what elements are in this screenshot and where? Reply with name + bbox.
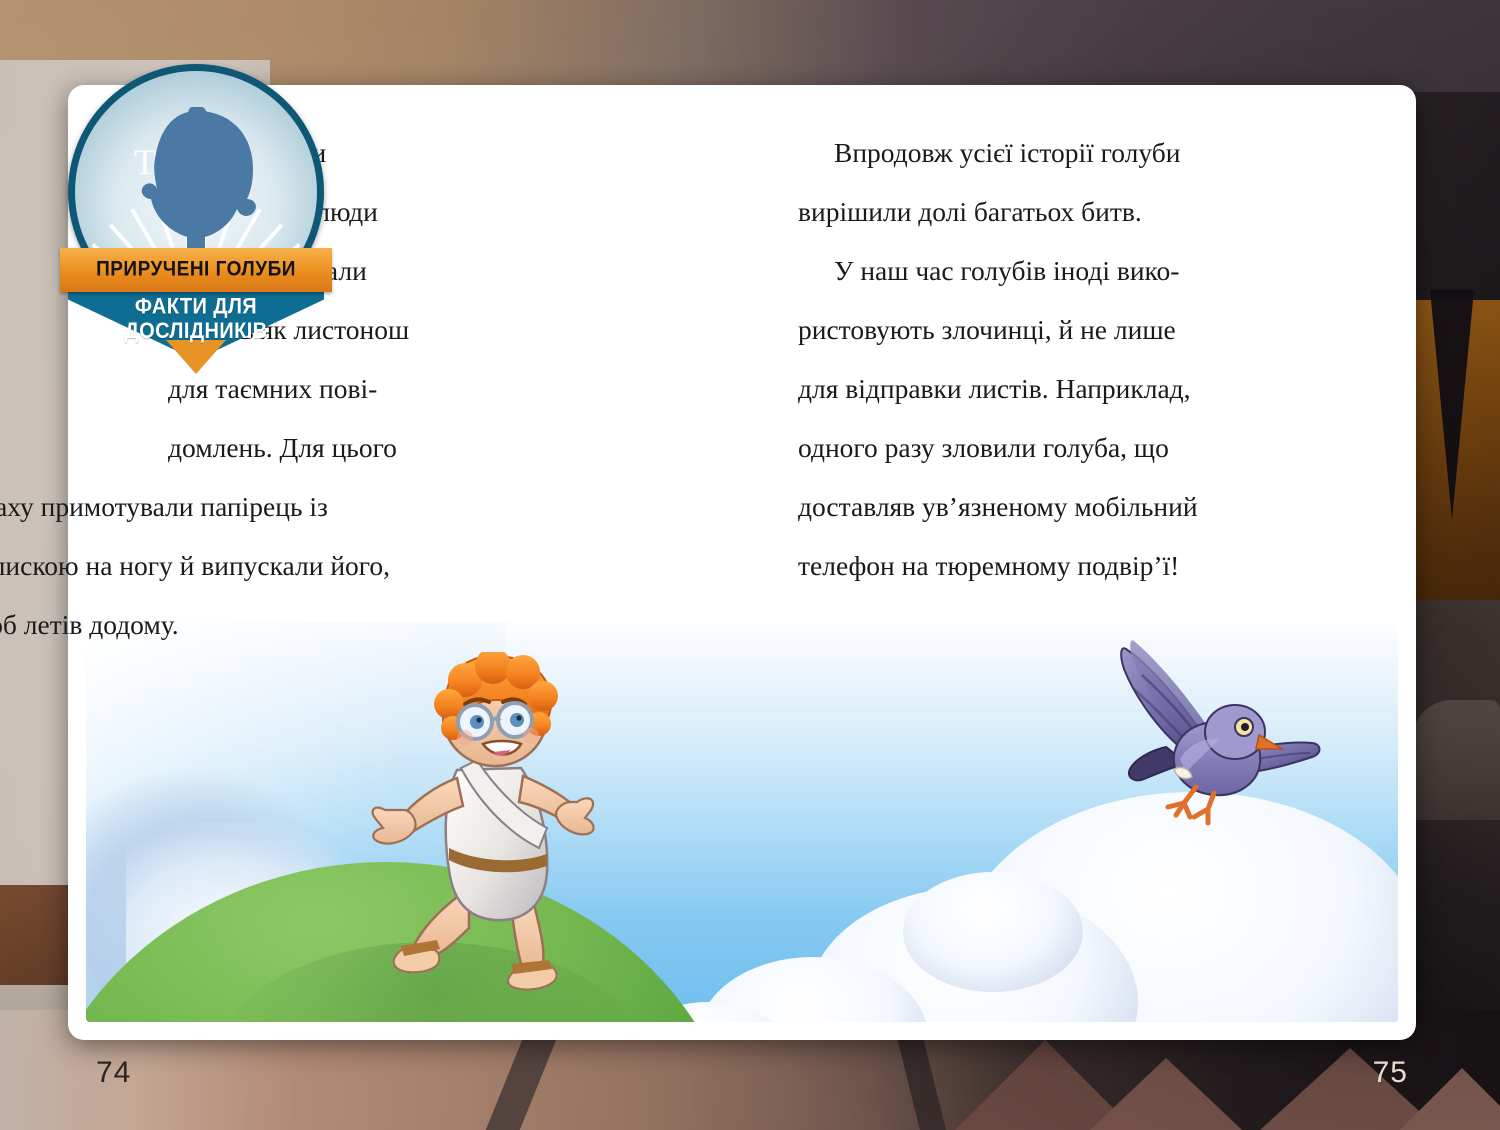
right-line-6: одного разу зловили голуба, що — [798, 418, 1298, 477]
badge-shield: ФАКТИ ДЛЯ ДОСЛІДНИКІВ ПРИРУЧЕНІ ГОЛУБИ — [68, 248, 324, 398]
right-line-8: телефон на тюремному подвір’ї! — [798, 536, 1298, 595]
badge-subtitle: ФАКТИ ДЛЯ ДОСЛІДНИКІВ — [68, 295, 324, 343]
background-peak-2 — [1090, 1058, 1242, 1130]
right-line-4: ристовують злочинці, й не лише — [798, 300, 1298, 359]
badge-ribbon-tail — [166, 340, 226, 374]
right-line-7: доставляв ув’язненому мобільний — [798, 477, 1298, 536]
badge-subtitle-line-1: ФАКТИ ДЛЯ — [68, 295, 324, 319]
background-right-stalactite — [1430, 290, 1474, 520]
illustration — [86, 622, 1398, 1022]
left-line-7: птаху примотували папірець із — [0, 477, 708, 536]
background-right-rock-secondary — [1412, 700, 1500, 820]
right-line-5: для відправки листів. Наприклад, — [798, 359, 1298, 418]
badge-ribbon: ПРИРУЧЕНІ ГОЛУБИ — [60, 248, 332, 292]
boy-character-illustration — [361, 652, 661, 992]
right-text-column: Впродовж усієї історії голуби вирішили д… — [798, 123, 1298, 595]
badge-ribbon-label: ПРИРУЧЕНІ ГОЛУБИ — [96, 258, 296, 283]
badge-letter: Т — [75, 141, 215, 183]
book-spread: Понад три тисячі років люди використовув… — [0, 0, 1500, 1130]
page-number-right: 75 — [1373, 1056, 1408, 1090]
cloud-puff-5 — [903, 872, 1083, 992]
page-number-left: 74 — [96, 1056, 131, 1090]
left-line-8: запискою на ногу й випускали його, — [0, 536, 708, 595]
badge-subtitle-line-2: ДОСЛІДНИКІВ — [68, 320, 324, 344]
left-line-9: щоб летів додому. — [0, 595, 708, 654]
badge[interactable]: Т ФАКТИ ДЛЯ ДОСЛІДНИКІВ ПРИРУЧЕНІ ГОЛУБИ — [62, 62, 334, 334]
right-line-3: У наш час голубів іноді вико- — [798, 241, 1298, 300]
pigeon-illustration — [1096, 627, 1336, 837]
left-line-6: домлень. Для цього — [168, 418, 708, 477]
right-line-1: Впродовж усієї історії голуби — [798, 123, 1298, 182]
right-line-2: вирішили долі багатьох битв. — [798, 182, 1298, 241]
background-peak-4 — [1400, 1068, 1500, 1130]
